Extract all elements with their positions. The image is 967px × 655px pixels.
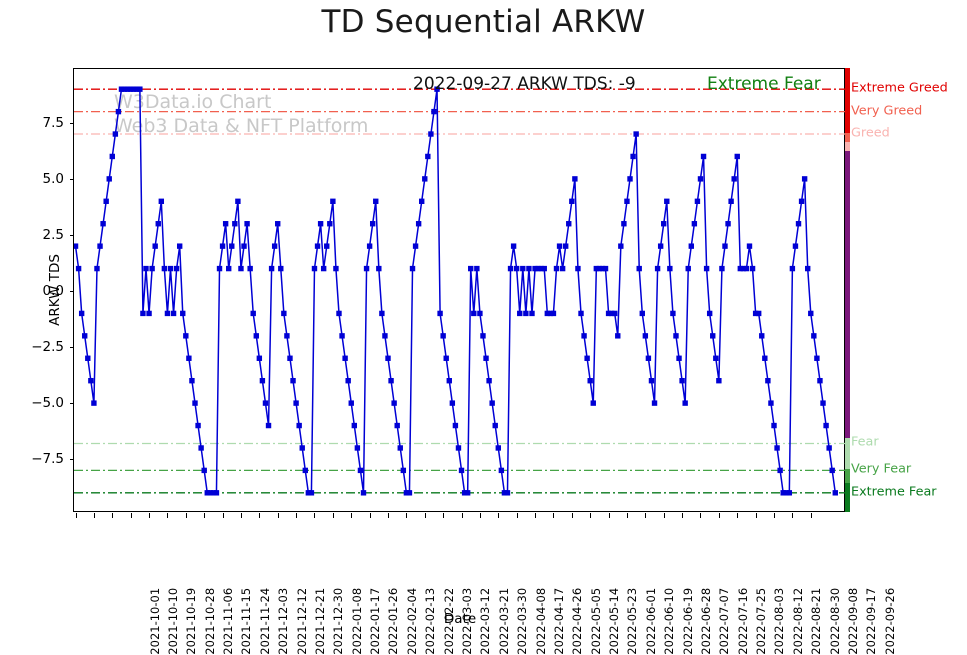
data-point-marker — [266, 423, 271, 428]
data-point-marker — [272, 243, 277, 248]
data-point-marker — [584, 356, 589, 361]
x-tick-mark — [627, 513, 628, 518]
x-tick-mark — [443, 513, 444, 518]
data-point-marker — [312, 266, 317, 271]
data-point-marker — [116, 109, 121, 114]
data-point-marker — [569, 199, 574, 204]
data-point-marker — [471, 311, 476, 316]
data-point-marker — [330, 199, 335, 204]
data-point-marker — [618, 243, 623, 248]
data-point-marker — [431, 109, 436, 114]
data-point-marker — [180, 311, 185, 316]
x-tick-mark — [131, 513, 132, 518]
data-point-marker — [756, 311, 761, 316]
data-point-marker — [370, 221, 375, 226]
data-point-marker — [523, 311, 528, 316]
data-point-marker — [560, 266, 565, 271]
data-point-marker — [159, 199, 164, 204]
x-tick-label: 2022-09-08 — [846, 588, 860, 655]
y-tick-label: 7.5 — [43, 115, 64, 131]
data-point-marker — [339, 333, 344, 338]
data-point-marker — [670, 311, 675, 316]
data-point-marker — [578, 311, 583, 316]
gutter-band — [845, 469, 850, 482]
data-point-marker — [401, 468, 406, 473]
x-tick-label: 2022-07-07 — [717, 588, 731, 655]
data-point-marker — [480, 333, 485, 338]
tds-series — [74, 86, 838, 495]
data-point-marker — [318, 221, 323, 226]
x-tick-mark — [204, 513, 205, 518]
gutter-band — [845, 142, 850, 151]
data-point-marker — [217, 266, 222, 271]
data-point-marker — [704, 266, 709, 271]
x-tick-label: 2021-10-01 — [147, 588, 161, 655]
data-point-marker — [232, 221, 237, 226]
data-point-marker — [474, 266, 479, 271]
data-point-marker — [508, 266, 513, 271]
data-point-marker — [554, 266, 559, 271]
x-tick-label: 2022-06-19 — [680, 588, 694, 655]
x-tick-label: 2021-10-19 — [184, 588, 198, 655]
data-point-marker — [100, 221, 105, 226]
data-point-marker — [572, 176, 577, 181]
data-point-marker — [744, 266, 749, 271]
data-point-marker — [823, 423, 828, 428]
data-point-marker — [189, 378, 194, 383]
threshold-label-fear: Fear — [851, 435, 879, 450]
data-point-marker — [630, 154, 635, 159]
y-tick-label: 5.0 — [43, 171, 64, 187]
x-tick-mark — [664, 513, 665, 518]
data-point-marker — [198, 445, 203, 450]
x-tick-label: 2022-03-12 — [478, 588, 492, 655]
threshold-label-very-fear: Very Fear — [851, 462, 911, 477]
x-tick-label: 2022-02-13 — [423, 588, 437, 655]
data-point-marker — [382, 333, 387, 338]
data-point-marker — [658, 243, 663, 248]
gutter-band — [845, 438, 850, 469]
x-tick-mark — [314, 513, 315, 518]
x-tick-label: 2021-10-10 — [166, 588, 180, 655]
data-point-marker — [214, 490, 219, 495]
x-tick-mark — [112, 513, 113, 518]
x-tick-mark — [370, 513, 371, 518]
gutter-band — [845, 68, 850, 133]
x-tick-label: 2022-04-08 — [533, 588, 547, 655]
data-point-marker — [820, 400, 825, 405]
data-point-marker — [465, 490, 470, 495]
data-point-marker — [410, 266, 415, 271]
data-point-marker — [591, 400, 596, 405]
data-point-marker — [336, 311, 341, 316]
data-point-marker — [293, 400, 298, 405]
data-point-marker — [391, 400, 396, 405]
data-point-marker — [627, 176, 632, 181]
x-tick-label: 2022-07-25 — [754, 588, 768, 655]
data-point-marker — [358, 468, 363, 473]
x-tick-mark — [756, 513, 757, 518]
data-point-marker — [637, 266, 642, 271]
data-point-marker — [260, 378, 265, 383]
x-tick-mark — [480, 513, 481, 518]
data-point-marker — [774, 445, 779, 450]
y-tick-mark — [70, 291, 75, 292]
data-point-marker — [526, 266, 531, 271]
data-point-marker — [468, 266, 473, 271]
data-point-marker — [321, 266, 326, 271]
data-point-marker — [327, 221, 332, 226]
x-tick-mark — [76, 513, 77, 518]
data-point-marker — [385, 356, 390, 361]
data-point-marker — [624, 199, 629, 204]
data-point-marker — [407, 490, 412, 495]
data-point-marker — [621, 221, 626, 226]
x-tick-label: 2022-01-08 — [350, 588, 364, 655]
gutter-band — [845, 483, 850, 512]
data-point-marker — [171, 311, 176, 316]
y-tick-mark — [70, 123, 75, 124]
data-point-marker — [361, 490, 366, 495]
data-point-marker — [152, 243, 157, 248]
data-point-marker — [603, 266, 608, 271]
data-point-marker — [395, 423, 400, 428]
data-point-marker — [499, 468, 504, 473]
data-point-marker — [113, 131, 118, 136]
data-point-marker — [814, 356, 819, 361]
data-point-marker — [192, 400, 197, 405]
data-point-marker — [287, 356, 292, 361]
data-point-marker — [174, 266, 179, 271]
series-canvas — [74, 69, 846, 513]
x-tick-mark — [462, 513, 463, 518]
data-point-marker — [750, 266, 755, 271]
x-tick-mark — [333, 513, 334, 518]
page-title: TD Sequential ARKW — [0, 4, 967, 40]
data-point-marker — [278, 266, 283, 271]
data-point-marker — [103, 199, 108, 204]
data-point-marker — [220, 243, 225, 248]
x-tick-label: 2021-12-30 — [331, 588, 345, 655]
data-point-marker — [477, 311, 482, 316]
data-point-marker — [808, 311, 813, 316]
data-point-marker — [719, 266, 724, 271]
data-point-marker — [833, 490, 838, 495]
data-point-marker — [379, 311, 384, 316]
data-point-marker — [422, 176, 427, 181]
data-point-marker — [376, 266, 381, 271]
data-point-marker — [257, 356, 262, 361]
data-point-marker — [777, 468, 782, 473]
data-point-marker — [364, 266, 369, 271]
data-point-marker — [140, 311, 145, 316]
data-point-marker — [557, 243, 562, 248]
data-point-marker — [450, 400, 455, 405]
data-point-marker — [419, 199, 424, 204]
data-point-marker — [88, 378, 93, 383]
x-tick-label: 2022-06-28 — [699, 588, 713, 655]
data-point-marker — [373, 199, 378, 204]
data-point-marker — [309, 490, 314, 495]
data-point-marker — [655, 266, 660, 271]
y-tick-label: 2.5 — [43, 227, 64, 243]
data-point-marker — [247, 266, 252, 271]
data-point-marker — [251, 311, 256, 316]
threshold-lines — [74, 89, 846, 493]
plot-area: W3Data.io Chart Web3 Data & NFT Platform… — [73, 68, 845, 512]
data-point-marker — [85, 356, 90, 361]
x-tick-label: 2022-02-22 — [441, 588, 455, 655]
series-line — [76, 89, 836, 493]
data-point-marker — [701, 154, 706, 159]
x-tick-mark — [700, 513, 701, 518]
threshold-label-extreme-fear: Extreme Fear — [851, 484, 937, 499]
data-point-marker — [689, 243, 694, 248]
data-point-marker — [254, 333, 259, 338]
data-point-marker — [762, 356, 767, 361]
x-tick-mark — [737, 513, 738, 518]
x-tick-mark — [517, 513, 518, 518]
x-tick-label: 2022-05-23 — [625, 588, 639, 655]
data-point-marker — [367, 243, 372, 248]
data-point-marker — [162, 266, 167, 271]
x-tick-mark — [406, 513, 407, 518]
data-point-marker — [349, 400, 354, 405]
data-point-marker — [643, 333, 648, 338]
data-point-marker — [444, 356, 449, 361]
data-point-marker — [296, 423, 301, 428]
data-point-marker — [110, 154, 115, 159]
data-point-marker — [679, 378, 684, 383]
x-tick-mark — [609, 513, 610, 518]
x-tick-label: 2022-08-03 — [772, 588, 786, 655]
x-tick-label: 2022-04-26 — [570, 588, 584, 655]
x-tick-mark — [388, 513, 389, 518]
x-tick-label: 2022-09-17 — [864, 588, 878, 655]
data-point-marker — [716, 378, 721, 383]
data-point-marker — [447, 378, 452, 383]
x-tick-mark — [682, 513, 683, 518]
x-tick-label: 2021-11-06 — [221, 588, 235, 655]
y-tick-mark — [70, 179, 75, 180]
data-point-marker — [713, 356, 718, 361]
data-point-marker — [345, 378, 350, 383]
x-tick-mark — [259, 513, 260, 518]
data-point-marker — [453, 423, 458, 428]
data-point-marker — [195, 423, 200, 428]
data-point-marker — [817, 378, 822, 383]
x-tick-label: 2022-02-04 — [405, 588, 419, 655]
data-point-marker — [284, 333, 289, 338]
x-tick-label: 2022-03-03 — [460, 588, 474, 655]
data-point-marker — [640, 311, 645, 316]
x-tick-label: 2022-01-17 — [368, 588, 382, 655]
y-tick-mark — [70, 459, 75, 460]
data-point-marker — [765, 378, 770, 383]
data-point-marker — [281, 311, 286, 316]
data-point-marker — [168, 266, 173, 271]
x-tick-mark — [186, 513, 187, 518]
x-tick-label: 2022-06-10 — [662, 588, 676, 655]
data-point-marker — [505, 490, 510, 495]
data-point-marker — [165, 311, 170, 316]
data-point-marker — [787, 490, 792, 495]
data-point-marker — [241, 243, 246, 248]
data-point-marker — [759, 333, 764, 338]
data-point-marker — [146, 311, 151, 316]
x-tick-label: 2022-08-12 — [791, 588, 805, 655]
data-point-marker — [74, 243, 78, 248]
x-tick-label: 2021-12-03 — [276, 588, 290, 655]
data-point-marker — [728, 199, 733, 204]
data-point-marker — [664, 199, 669, 204]
x-tick-mark — [223, 513, 224, 518]
x-tick-mark — [241, 513, 242, 518]
x-tick-mark — [94, 513, 95, 518]
data-point-marker — [483, 356, 488, 361]
data-point-marker — [686, 266, 691, 271]
data-point-marker — [440, 333, 445, 338]
data-point-marker — [202, 468, 207, 473]
data-point-marker — [333, 266, 338, 271]
x-tick-mark — [296, 513, 297, 518]
data-point-marker — [802, 176, 807, 181]
x-tick-label: 2021-11-15 — [239, 588, 253, 655]
x-tick-mark — [645, 513, 646, 518]
data-point-marker — [796, 221, 801, 226]
data-point-marker — [459, 468, 464, 473]
data-point-marker — [493, 423, 498, 428]
data-point-marker — [811, 333, 816, 338]
x-tick-mark — [774, 513, 775, 518]
data-point-marker — [676, 356, 681, 361]
x-tick-label: 2022-05-05 — [589, 588, 603, 655]
x-tick-mark — [553, 513, 554, 518]
y-tick-label: −7.5 — [31, 451, 64, 467]
data-point-marker — [542, 266, 547, 271]
data-point-marker — [425, 154, 430, 159]
x-tick-mark — [535, 513, 536, 518]
data-point-marker — [551, 311, 556, 316]
data-point-marker — [520, 266, 525, 271]
data-point-marker — [496, 445, 501, 450]
chart-page: TD Sequential ARKW W3Data.io Chart Web3 … — [0, 0, 967, 633]
x-tick-mark — [167, 513, 168, 518]
data-point-marker — [263, 400, 268, 405]
x-tick-mark — [792, 513, 793, 518]
data-point-marker — [514, 266, 519, 271]
data-point-marker — [269, 266, 274, 271]
threshold-label-extreme-greed: Extreme Greed — [851, 81, 948, 96]
threshold-label-greed: Greed — [851, 126, 890, 141]
data-point-marker — [342, 356, 347, 361]
data-point-marker — [97, 243, 102, 248]
data-point-marker — [731, 176, 736, 181]
x-tick-label: 2022-06-01 — [644, 588, 658, 655]
data-point-marker — [581, 333, 586, 338]
y-tick-label: −2.5 — [31, 339, 64, 355]
x-tick-label: 2021-12-12 — [294, 588, 308, 655]
data-point-marker — [486, 378, 491, 383]
data-point-marker — [747, 243, 752, 248]
data-point-marker — [456, 445, 461, 450]
data-point-marker — [575, 266, 580, 271]
data-point-marker — [149, 266, 154, 271]
data-point-marker — [300, 445, 305, 450]
threshold-label-very-greed: Very Greed — [851, 103, 922, 118]
y-tick-label: 0.0 — [43, 283, 64, 299]
x-tick-label: 2022-01-26 — [386, 588, 400, 655]
data-point-marker — [226, 266, 231, 271]
data-point-marker — [673, 333, 678, 338]
data-point-marker — [416, 221, 421, 226]
data-point-marker — [290, 378, 295, 383]
data-point-marker — [793, 243, 798, 248]
data-point-marker — [437, 311, 442, 316]
x-tick-mark — [351, 513, 352, 518]
data-point-marker — [315, 243, 320, 248]
x-tick-label: 2021-12-21 — [313, 588, 327, 655]
gutter-band — [845, 133, 850, 142]
data-point-marker — [235, 199, 240, 204]
data-point-marker — [275, 221, 280, 226]
data-point-marker — [511, 243, 516, 248]
data-point-marker — [238, 266, 243, 271]
data-point-marker — [183, 333, 188, 338]
data-point-marker — [303, 468, 308, 473]
x-tick-label: 2022-07-16 — [736, 588, 750, 655]
x-tick-label: 2022-03-21 — [497, 588, 511, 655]
data-point-marker — [355, 445, 360, 450]
x-tick-label: 2022-05-14 — [607, 588, 621, 655]
data-point-marker — [725, 221, 730, 226]
data-point-marker — [682, 400, 687, 405]
data-point-marker — [428, 131, 433, 136]
data-point-marker — [830, 468, 835, 473]
data-point-marker — [324, 243, 329, 248]
x-tick-mark — [425, 513, 426, 518]
data-point-marker — [722, 243, 727, 248]
data-point-marker — [79, 311, 84, 316]
x-tick-mark — [590, 513, 591, 518]
data-point-marker — [76, 266, 81, 271]
data-point-marker — [94, 266, 99, 271]
x-tick-mark — [149, 513, 150, 518]
x-tick-label: 2022-09-26 — [883, 588, 897, 655]
data-point-marker — [667, 266, 672, 271]
data-point-marker — [177, 243, 182, 248]
data-point-marker — [805, 266, 810, 271]
data-point-marker — [229, 243, 234, 248]
data-point-marker — [612, 311, 617, 316]
data-point-marker — [799, 199, 804, 204]
x-tick-label: 2022-03-30 — [515, 588, 529, 655]
data-point-marker — [652, 400, 657, 405]
data-point-marker — [186, 356, 191, 361]
data-point-marker — [517, 311, 522, 316]
x-tick-label: 2022-08-21 — [809, 588, 823, 655]
y-tick-label: −5.0 — [31, 395, 64, 411]
gutter-band — [845, 151, 850, 438]
x-tick-mark — [278, 513, 279, 518]
x-tick-mark — [572, 513, 573, 518]
data-point-marker — [489, 400, 494, 405]
data-point-marker — [790, 266, 795, 271]
data-point-marker — [137, 86, 142, 91]
data-point-marker — [91, 400, 96, 405]
data-point-marker — [615, 333, 620, 338]
x-tick-mark — [498, 513, 499, 518]
